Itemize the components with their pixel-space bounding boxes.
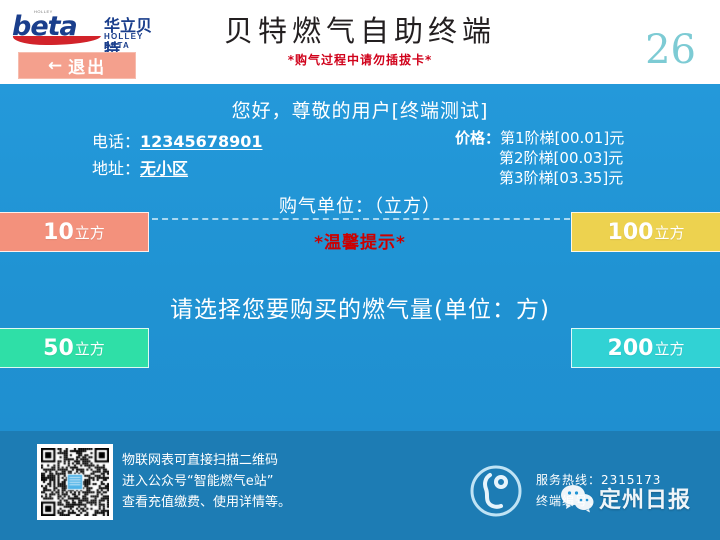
qr-code-canvas: [41, 448, 109, 516]
amount-unit: 立方: [654, 338, 684, 359]
exit-button-label: 退出: [68, 53, 106, 78]
amount-unit: 立方: [654, 222, 684, 243]
back-arrow-icon: ←: [48, 56, 64, 76]
address-value: 无小区: [140, 159, 188, 178]
qr-line-1: 物联网表可直接扫描二维码: [122, 450, 291, 471]
user-greeting: 您好，尊敬的用户[终端测试]: [0, 96, 720, 123]
amount-button-200[interactable]: 200立方: [571, 328, 720, 368]
qr-code[interactable]: [37, 444, 113, 520]
price-label: 价格：: [455, 129, 500, 147]
wechat-icon: [560, 483, 594, 513]
price-tier-row-2: 第2阶梯[00.03]元: [455, 148, 624, 168]
amount-button-50[interactable]: 50立方: [0, 328, 149, 368]
price-tier-row-1: 价格：第1阶梯[00.01]元: [455, 128, 624, 148]
amount-unit: 立方: [75, 338, 105, 359]
header-bar: HOLLEY beta 华立贝特 HOLLEY BETA ← 退出 贝特燃气自助…: [0, 0, 720, 84]
amount-value: 100: [608, 220, 654, 245]
price-tier-2: 第2阶梯[00.03]元: [499, 149, 623, 167]
address-label: 地址：: [92, 159, 140, 178]
amount-value: 200: [608, 336, 654, 361]
customer-info: 电话：12345678901 地址：无小区: [92, 128, 262, 182]
info-row-phone: 电话：12345678901: [92, 128, 262, 155]
qr-line-3: 查看充值缴费、使用详情等。: [122, 492, 291, 513]
page-title: 贝特燃气自助终端: [180, 14, 540, 48]
qr-instruction-text: 物联网表可直接扫描二维码 进入公众号“智能燃气e站” 查看充值缴费、使用详情等。: [122, 450, 291, 513]
price-tier-block: 价格：第1阶梯[00.01]元 第2阶梯[00.03]元 第3阶梯[03.35]…: [455, 128, 624, 188]
watermark: 定州日报: [560, 482, 691, 514]
company-logo: HOLLEY beta 华立贝特 HOLLEY BETA: [12, 9, 164, 45]
page-subtitle: *购气过程中请勿插拔卡*: [180, 51, 540, 68]
price-tier-row-3: 第3阶梯[03.35]元: [455, 168, 624, 188]
logo-english-name: HOLLEY BETA: [104, 32, 164, 50]
phone-icon: [470, 465, 522, 517]
price-tier-1: 第1阶梯[00.01]元: [500, 129, 624, 147]
price-tier-3: 第3阶梯[03.35]元: [499, 169, 623, 187]
phone-value: 12345678901: [140, 132, 262, 151]
exit-button[interactable]: ← 退出: [18, 52, 136, 79]
amount-value: 10: [43, 220, 74, 245]
phone-label: 电话：: [92, 132, 140, 151]
title-block: 贝特燃气自助终端 *购气过程中请勿插拔卡*: [180, 14, 540, 68]
watermark-label: 定州日报: [599, 482, 691, 514]
amount-button-100[interactable]: 100立方: [571, 212, 720, 252]
selection-prompt: 请选择您要购买的燃气量(单位：方): [0, 290, 720, 324]
amount-unit: 立方: [75, 222, 105, 243]
amount-button-10[interactable]: 10立方: [0, 212, 149, 252]
terminal-screen: HOLLEY beta 华立贝特 HOLLEY BETA ← 退出 贝特燃气自助…: [0, 0, 720, 540]
amount-value: 50: [43, 336, 74, 361]
dashed-divider: [152, 218, 570, 220]
session-number: 26: [645, 30, 696, 70]
logo-swoosh-shape: [11, 36, 101, 45]
qr-line-2: 进入公众号“智能燃气e站”: [122, 471, 291, 492]
info-row-address: 地址：无小区: [92, 155, 262, 182]
